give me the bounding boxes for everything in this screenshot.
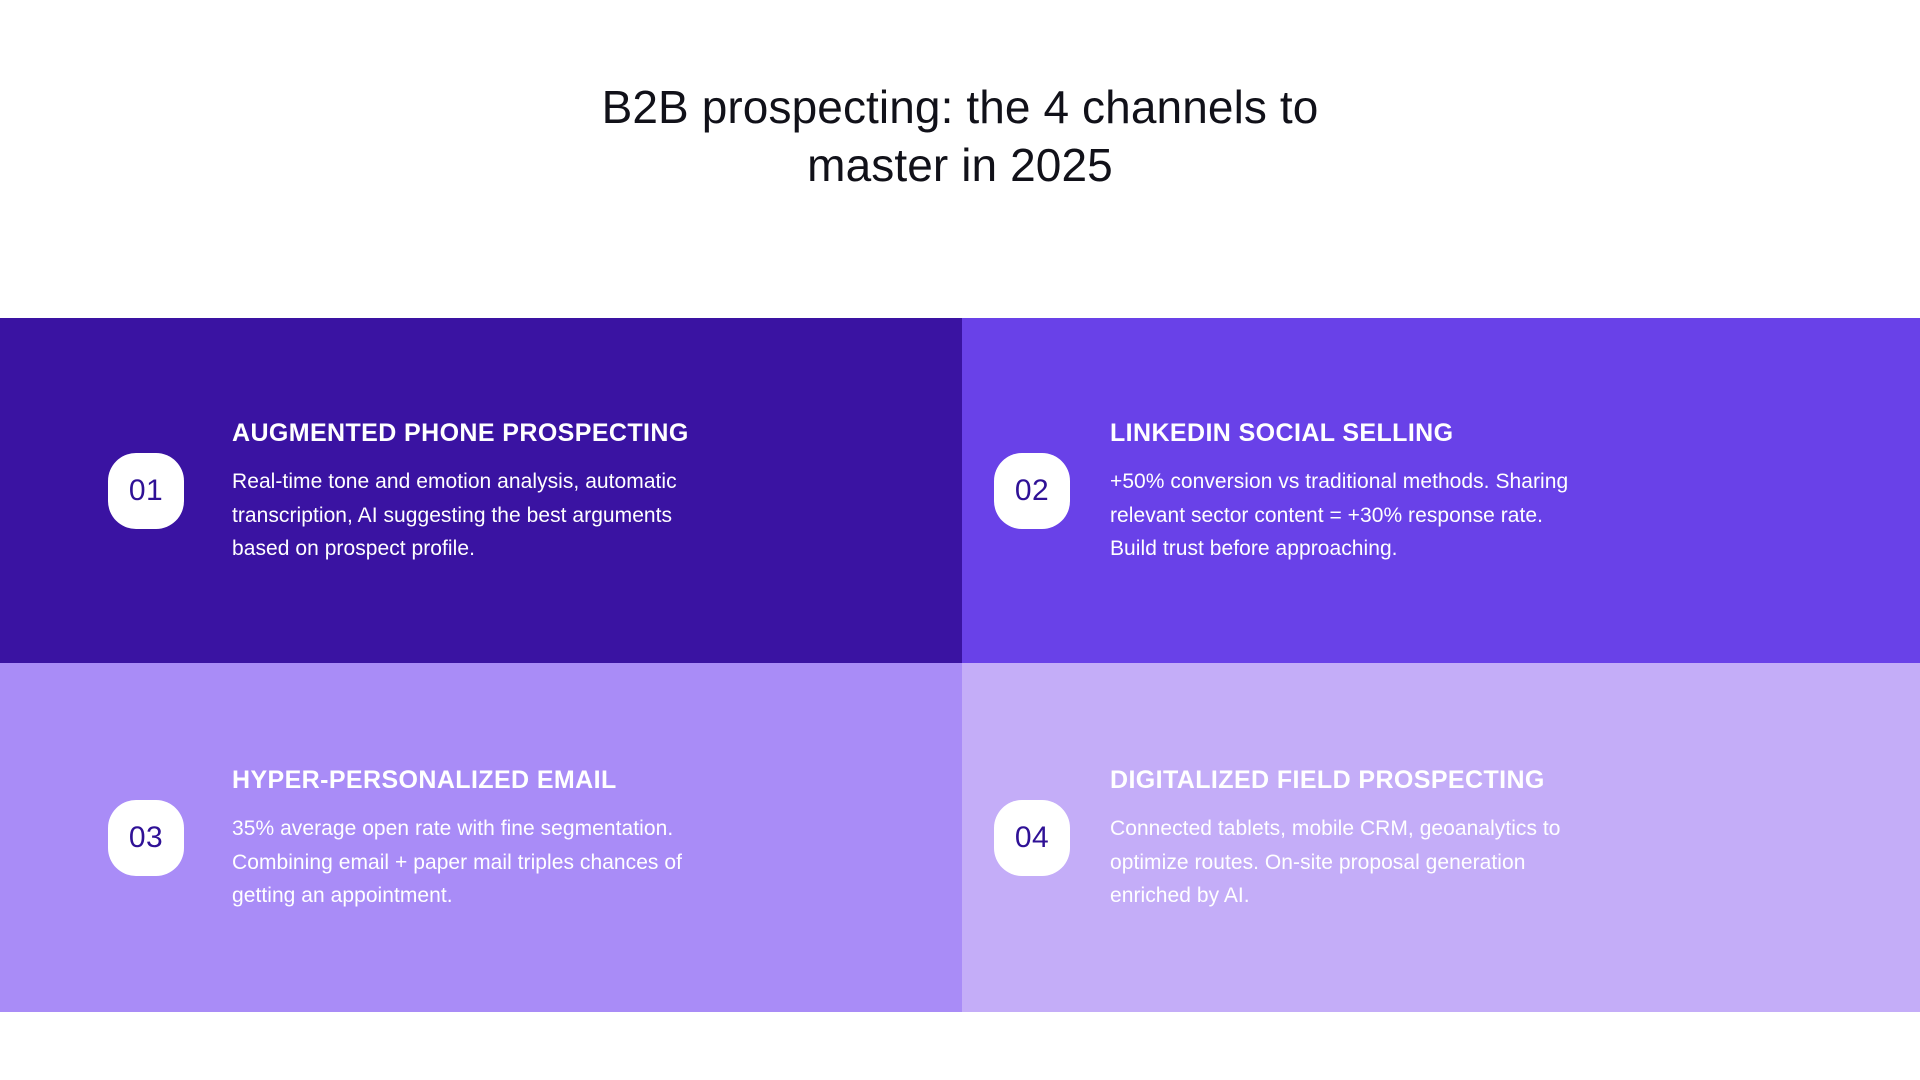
step-number-03: 03 <box>129 823 163 853</box>
step-number-01: 01 <box>129 476 163 506</box>
step-badge-02: 02 <box>994 453 1070 529</box>
badge-column-04: 04 <box>1010 800 1110 876</box>
infographic-page: B2B prospecting: the 4 channels to maste… <box>0 0 1920 1080</box>
card-body-04: Connected tablets, mobile CRM, geoanalyt… <box>1110 812 1580 912</box>
card-title-02: LINKEDIN SOCIAL SELLING <box>1110 416 1580 452</box>
page-title-line-2: master in 2025 <box>807 139 1113 191</box>
card-title-03: HYPER-PERSONALIZED EMAIL <box>232 763 702 799</box>
channel-card-02[interactable]: 02 LINKEDIN SOCIAL SELLING +50% conversi… <box>962 318 1920 663</box>
channel-card-01[interactable]: 01 AUGMENTED PHONE PROSPECTING Real-time… <box>0 318 962 663</box>
card-text-02: LINKEDIN SOCIAL SELLING +50% conversion … <box>1110 416 1670 566</box>
page-title-text: B2B prospecting: the 4 channels to maste… <box>602 78 1319 195</box>
card-title-04: DIGITALIZED FIELD PROSPECTING <box>1110 763 1580 799</box>
channel-card-04[interactable]: 04 DIGITALIZED FIELD PROSPECTING Connect… <box>962 663 1920 1012</box>
card-body-01: Real-time tone and emotion analysis, aut… <box>232 465 702 565</box>
card-body-02: +50% conversion vs traditional methods. … <box>1110 465 1580 565</box>
channel-card-03[interactable]: 03 HYPER-PERSONALIZED EMAIL 35% average … <box>0 663 962 1012</box>
badge-column-03: 03 <box>0 800 232 876</box>
page-title-line-1: B2B prospecting: the 4 channels to <box>602 81 1319 133</box>
card-title-01: AUGMENTED PHONE PROSPECTING <box>232 416 702 452</box>
badge-column-01: 01 <box>0 453 232 529</box>
channels-grid: 01 AUGMENTED PHONE PROSPECTING Real-time… <box>0 318 1920 1012</box>
step-number-02: 02 <box>1015 476 1049 506</box>
card-text-01: AUGMENTED PHONE PROSPECTING Real-time to… <box>232 416 792 566</box>
step-badge-01: 01 <box>108 453 184 529</box>
card-text-04: DIGITALIZED FIELD PROSPECTING Connected … <box>1110 763 1670 913</box>
card-body-03: 35% average open rate with fine segmenta… <box>232 812 702 912</box>
card-text-03: HYPER-PERSONALIZED EMAIL 35% average ope… <box>232 763 792 913</box>
page-title: B2B prospecting: the 4 channels to maste… <box>0 78 1920 195</box>
badge-column-02: 02 <box>1010 453 1110 529</box>
step-badge-04: 04 <box>994 800 1070 876</box>
step-badge-03: 03 <box>108 800 184 876</box>
step-number-04: 04 <box>1015 823 1049 853</box>
